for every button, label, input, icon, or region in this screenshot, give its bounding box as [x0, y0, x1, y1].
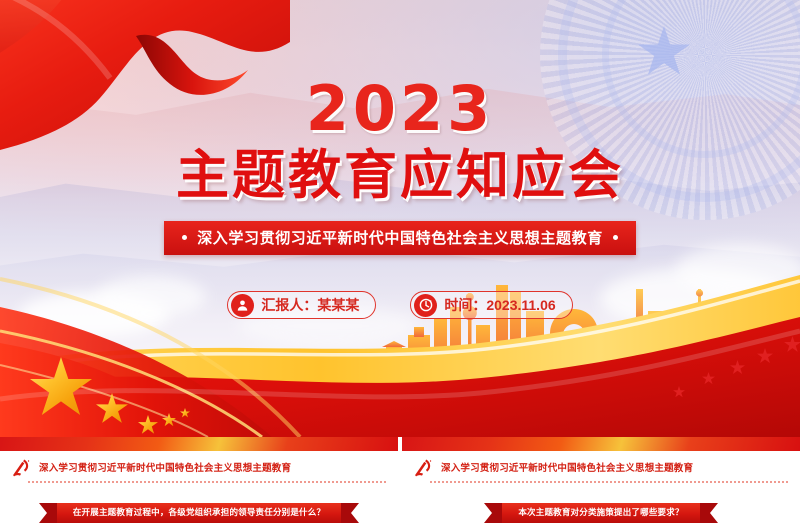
- main-slide[interactable]: 2023 主题教育应知应会 深入学习贯彻习近平新时代中国特色社会主义思想主题教育…: [0, 0, 800, 437]
- thumbnail-header-1: 深入学习贯彻习近平新时代中国特色社会主义思想主题教育: [10, 456, 291, 478]
- thumbnail-header-text-1: 深入学习贯彻习近平新时代中国特色社会主义思想主题教育: [39, 460, 291, 474]
- thumbnail-slide-2[interactable]: 深入学习贯彻习近平新时代中国特色社会主义思想主题教育 本次主题教育对分类施策提出…: [402, 437, 800, 526]
- gold-star-5: [180, 408, 190, 418]
- thumbnail-ribbon-text-2: 本次主题教育对分类施策提出了哪些要求？: [502, 503, 699, 523]
- subtitle-text: 深入学习贯彻习近平新时代中国特色社会主义思想主题教育: [197, 227, 603, 248]
- thumbnail-ribbon-1: 在开展主题教育过程中，各级党组织承担的领导责任分别是什么？: [0, 503, 398, 523]
- ribbon-tail-right-2: [700, 503, 718, 523]
- thumbnail-ribbon-text-1: 在开展主题教育过程中，各级党组织承担的领导责任分别是什么？: [57, 503, 341, 523]
- presentation-screenshot: 2023 主题教育应知应会 深入学习贯彻习近平新时代中国特色社会主义思想主题教育…: [0, 0, 800, 526]
- thumbnail-strip: 深入学习贯彻习近平新时代中国特色社会主义思想主题教育 在开展主题教育过程中，各级…: [0, 437, 800, 526]
- date-pill[interactable]: 时间：2023.11.06: [410, 291, 572, 319]
- ribbon-tail-right-1: [341, 503, 359, 523]
- gold-star-1: [30, 357, 92, 419]
- gold-star-3: [138, 415, 158, 435]
- title-block: 2023 主题教育应知应会 深入学习贯彻习近平新时代中国特色社会主义思想主题教育: [0, 78, 800, 255]
- meta-row: 汇报人：某某某 时间：2023.11.06: [0, 291, 800, 319]
- thumbnail-header-text-2: 深入学习贯彻习近平新时代中国特色社会主义思想主题教育: [441, 460, 693, 474]
- year-heading: 2023: [0, 78, 800, 140]
- thumbnail-ribbon-2: 本次主题教育对分类施策提出了哪些要求？: [402, 503, 800, 523]
- bullet-dot-left-icon: [182, 235, 187, 240]
- gold-star-4: [162, 413, 176, 427]
- presenter-label: 汇报人：某某某: [261, 295, 359, 315]
- subtitle-banner: 深入学习贯彻习近平新时代中国特色社会主义思想主题教育: [164, 221, 636, 255]
- thumbnail-top-bar-2: [402, 437, 800, 451]
- party-emblem-icon: [10, 456, 32, 478]
- person-icon: [231, 294, 254, 317]
- party-emblem-icon: [412, 456, 434, 478]
- ribbon-tail-left-2: [484, 503, 502, 523]
- thumbnail-top-bar-1: [0, 437, 398, 451]
- thumbnail-divider-1: [28, 481, 388, 483]
- thumbnail-slide-1[interactable]: 深入学习贯彻习近平新时代中国特色社会主义思想主题教育 在开展主题教育过程中，各级…: [0, 437, 398, 526]
- thumbnail-divider-2: [430, 481, 790, 483]
- ribbon-tail-left-1: [39, 503, 57, 523]
- thumbnail-header-2: 深入学习贯彻习近平新时代中国特色社会主义思想主题教育: [412, 456, 693, 478]
- date-label: 时间：2023.11.06: [444, 295, 555, 315]
- clock-icon: [414, 294, 437, 317]
- page-title: 主题教育应知应会: [0, 146, 800, 205]
- bullet-dot-right-icon: [613, 235, 618, 240]
- gold-star-2: [96, 393, 128, 425]
- presenter-pill[interactable]: 汇报人：某某某: [227, 291, 376, 319]
